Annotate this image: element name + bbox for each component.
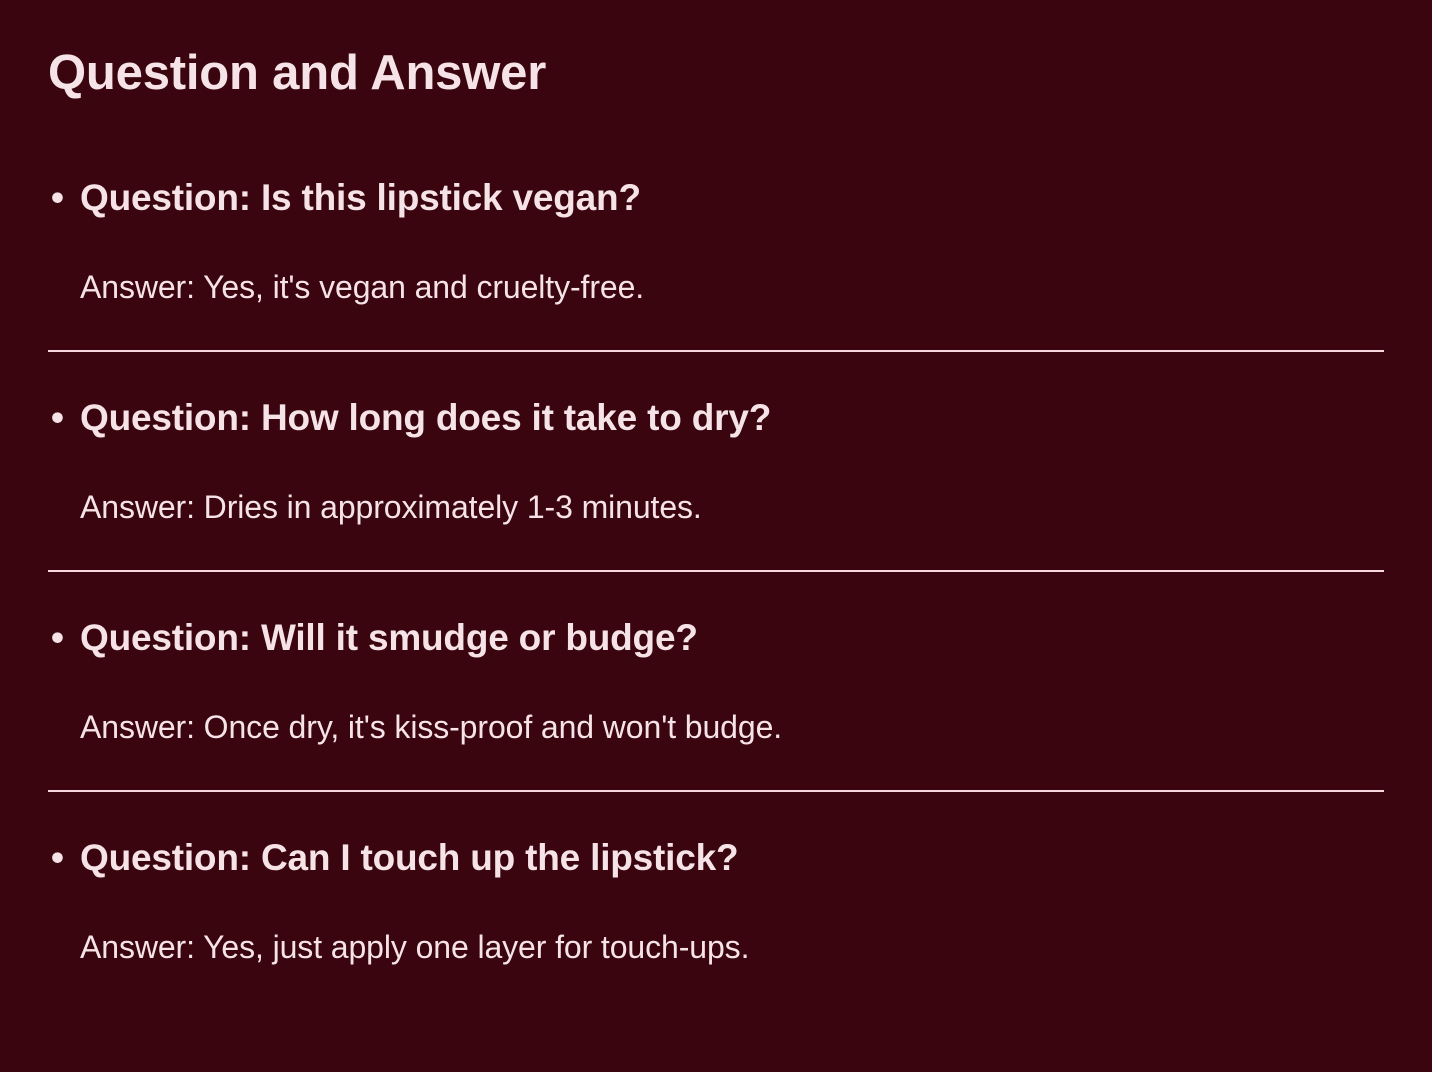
qa-answer: Answer: Yes, just apply one layer for to… bbox=[48, 928, 1384, 966]
qa-list: • Question: Is this lipstick vegan? Answ… bbox=[48, 176, 1384, 966]
qa-question: • Question: Can I touch up the lipstick? bbox=[48, 836, 1384, 880]
spacer bbox=[48, 572, 1384, 616]
qa-question: • Question: How long does it take to dry… bbox=[48, 396, 1384, 440]
spacer bbox=[48, 352, 1384, 396]
page-title: Question and Answer bbox=[48, 45, 546, 101]
qa-answer: Answer: Yes, it's vegan and cruelty-free… bbox=[48, 268, 1384, 306]
qa-question-text: Question: Is this lipstick vegan? bbox=[80, 177, 641, 218]
list-item: • Question: How long does it take to dry… bbox=[48, 352, 1384, 572]
qa-answer: Answer: Once dry, it's kiss-proof and wo… bbox=[48, 708, 1384, 746]
qa-question: • Question: Will it smudge or budge? bbox=[48, 616, 1384, 660]
bullet-icon: • bbox=[51, 176, 83, 220]
qa-answer: Answer: Dries in approximately 1-3 minut… bbox=[48, 488, 1384, 526]
qa-question: • Question: Is this lipstick vegan? bbox=[48, 176, 1384, 220]
spacer bbox=[48, 792, 1384, 836]
list-item: • Question: Is this lipstick vegan? Answ… bbox=[48, 176, 1384, 352]
qa-question-text: Question: Will it smudge or budge? bbox=[80, 617, 698, 658]
qa-page: Question and Answer • Question: Is this … bbox=[0, 0, 1432, 1072]
list-item: • Question: Can I touch up the lipstick?… bbox=[48, 792, 1384, 966]
bullet-icon: • bbox=[51, 396, 83, 440]
bullet-icon: • bbox=[51, 616, 83, 660]
qa-question-text: Question: Can I touch up the lipstick? bbox=[80, 837, 738, 878]
list-item: • Question: Will it smudge or budge? Ans… bbox=[48, 572, 1384, 792]
qa-question-text: Question: How long does it take to dry? bbox=[80, 397, 771, 438]
bullet-icon: • bbox=[51, 836, 83, 880]
